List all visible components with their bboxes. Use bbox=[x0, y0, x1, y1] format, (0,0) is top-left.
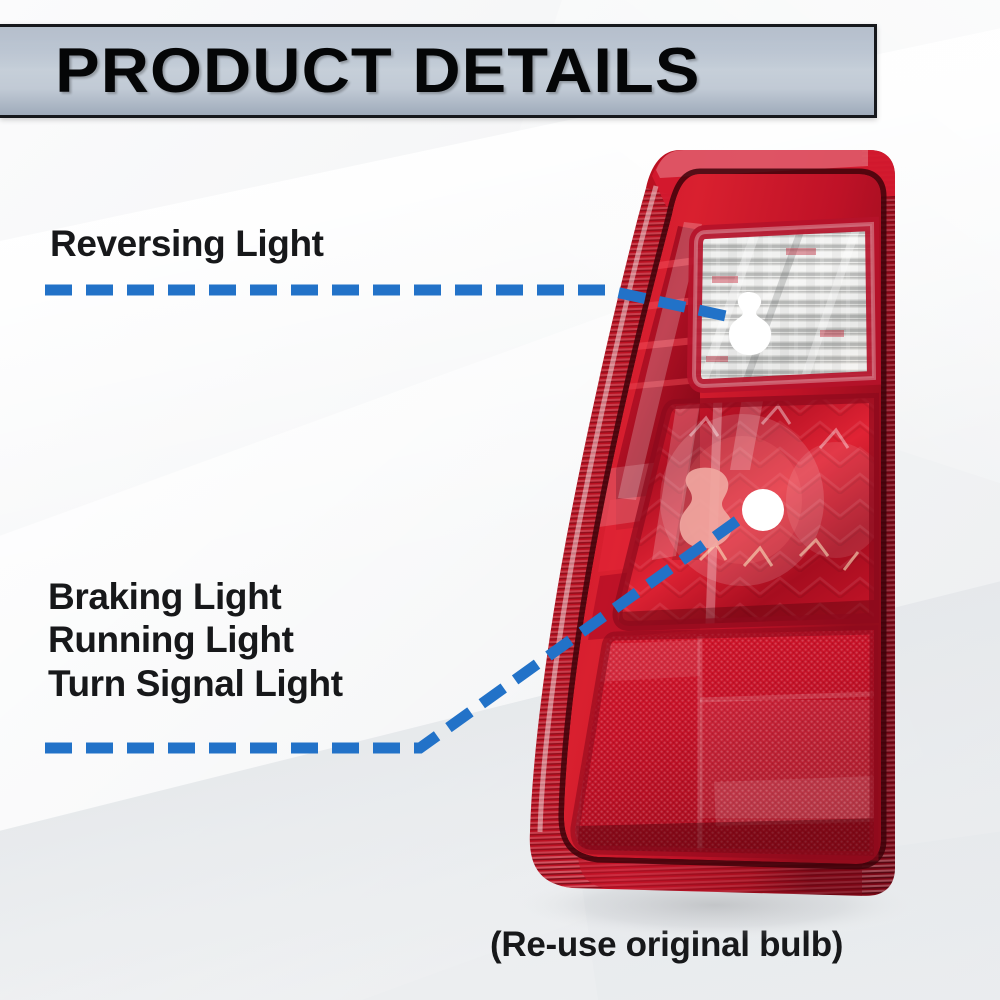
leader-lines bbox=[0, 0, 1000, 1000]
leader-line-brake-run-turn bbox=[45, 513, 748, 748]
product-details-image: PRODUCT DETAILS Reversing Light Braking … bbox=[0, 0, 1000, 1000]
leader-line-reversing-light bbox=[45, 290, 735, 318]
